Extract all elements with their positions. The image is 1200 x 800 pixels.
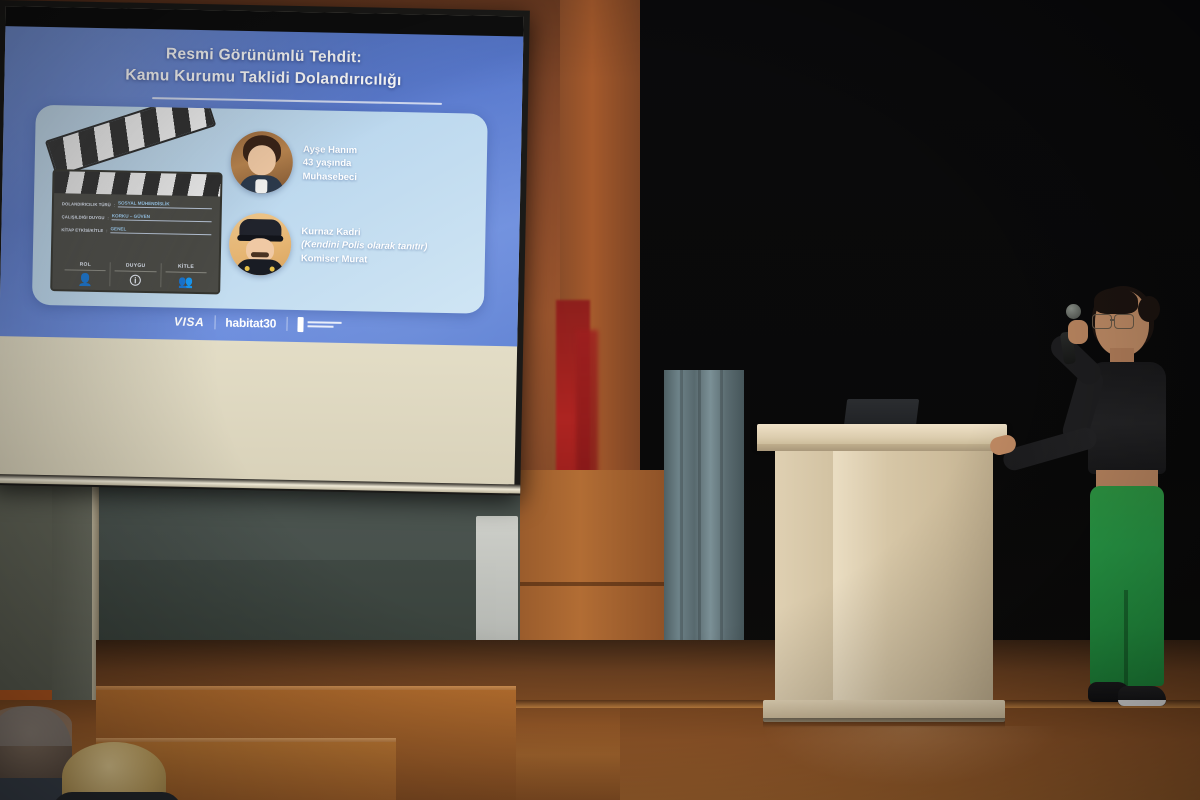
clapper-row-value: GENEL (110, 226, 211, 235)
presentation-photo: Resmi Görünümlü Tehdit: Kamu Kurumu Takl… (0, 0, 1200, 800)
persona-job: Muhasebeci (302, 170, 357, 184)
slide-content-card: DOLANDIRICILIK TÜRÜ : SOSYAL MÜHENDİSLİK… (32, 105, 488, 314)
microphone-icon (1066, 304, 1081, 319)
clapper-row: KİTAP ETKİSİ/KİTLE : GENEL (61, 225, 211, 235)
clapper-row-label: DOLANDIRICILIK TÜRÜ (62, 201, 111, 207)
clapper-row-separator: : (107, 215, 108, 220)
speaker-hair-bun (1138, 296, 1160, 322)
clapper-column: ROL 👤 (60, 261, 111, 286)
crowd-icon: 👥 (161, 275, 211, 288)
clapper-row: DOLANDIRICILIK TÜRÜ : SOSYAL MÜHENDİSLİK (62, 199, 212, 209)
persona-fraudster: Kurnaz Kadri (Kendini Polis olarak tanıt… (229, 213, 428, 279)
clapper-column-label: KİTLE (161, 263, 210, 270)
visa-logo: VISA (174, 315, 205, 330)
ministry-logo (297, 317, 341, 333)
logo-divider (286, 317, 287, 331)
persona-fraudster-text: Kurnaz Kadri (Kendini Polis olarak tanıt… (301, 225, 428, 267)
clapper-row-separator: : (106, 228, 107, 233)
persona-name: Ayşe Hanım (303, 143, 358, 157)
clapper-column-label: ROL (61, 261, 110, 268)
slide-title-line1: Resmi Görünümlü Tehdit: (166, 45, 362, 66)
slide-title-line2: Kamu Kurumu Taklidi Dolandırıcılığı (4, 62, 522, 94)
persona-alias: Komiser Murat (301, 252, 427, 268)
trouser-leg-split (1124, 590, 1128, 690)
clapper-column-rule (115, 270, 156, 272)
avatar-kadri (229, 213, 292, 276)
speaker-hand-holding-mic (1068, 320, 1088, 344)
speaker-presenter (1040, 290, 1190, 750)
podium-side-face (775, 451, 833, 709)
clapper-row: ÇALIŞILDIĞI DUYGU : KORKU – GÜVEN (62, 212, 212, 222)
clapper-column-rule (65, 269, 106, 271)
clapper-icon-columns: ROL 👤 DUYGU 🛈 KİTLE (60, 261, 210, 288)
person-icon: 👤 (60, 273, 110, 286)
podium-shadow (763, 718, 1005, 728)
clapper-column: KİTLE 👥 (161, 263, 211, 288)
clapper-stripe (54, 171, 220, 196)
logo-divider (214, 315, 215, 329)
podium-top-edge (757, 444, 1007, 451)
clapper-column-rule (165, 271, 206, 273)
projected-slide: Resmi Görünümlü Tehdit: Kamu Kurumu Takl… (0, 26, 523, 346)
clapper-row-value: SOSYAL MÜHENDİSLİK (118, 200, 212, 209)
projection-screen: Resmi Görünümlü Tehdit: Kamu Kurumu Takl… (0, 0, 530, 496)
shoe-sole (1118, 700, 1166, 706)
audience-member-1-hair (0, 706, 72, 746)
clapper-row-value: KORKU – GÜVEN (112, 213, 212, 222)
floor-reflection (760, 726, 1060, 786)
clapper-column: DUYGU 🛈 (111, 262, 162, 287)
habitat-logo: habitat30 (225, 316, 276, 331)
avatar-ayse (230, 131, 293, 194)
speaker-hair-front (1094, 288, 1138, 314)
clapper-body: DOLANDIRICILIK TÜRÜ : SOSYAL MÜHENDİSLİK… (50, 169, 222, 294)
clapper-field-rows: DOLANDIRICILIK TÜRÜ : SOSYAL MÜHENDİSLİK… (61, 199, 212, 241)
clapper-row-label: ÇALIŞILDIĞI DUYGU (62, 214, 105, 220)
persona-age: 43 yaşında (303, 157, 358, 171)
glasses-icon (1092, 314, 1138, 327)
stage-door-rail (520, 582, 670, 586)
clapper-column-label: DUYGU (111, 262, 160, 269)
clapperboard-graphic: DOLANDIRICILIK TÜRÜ : SOSYAL MÜHENDİSLİK… (46, 139, 219, 292)
persona-victim-text: Ayşe Hanım 43 yaşında Muhasebeci (302, 143, 357, 183)
clapper-row-separator: : (114, 202, 115, 207)
emotion-icon: 🛈 (111, 274, 161, 287)
audience-member-2-shoulders (52, 792, 182, 800)
persona-victim: Ayşe Hanım 43 yaşında Muhasebeci (230, 131, 358, 196)
slide-title: Resmi Görünümlü Tehdit: Kamu Kurumu Takl… (4, 40, 523, 94)
title-underline (152, 97, 442, 105)
clapper-row-label: KİTAP ETKİSİ/KİTLE (61, 227, 103, 233)
clapper-arm (45, 105, 217, 177)
podium-top (757, 424, 1007, 446)
